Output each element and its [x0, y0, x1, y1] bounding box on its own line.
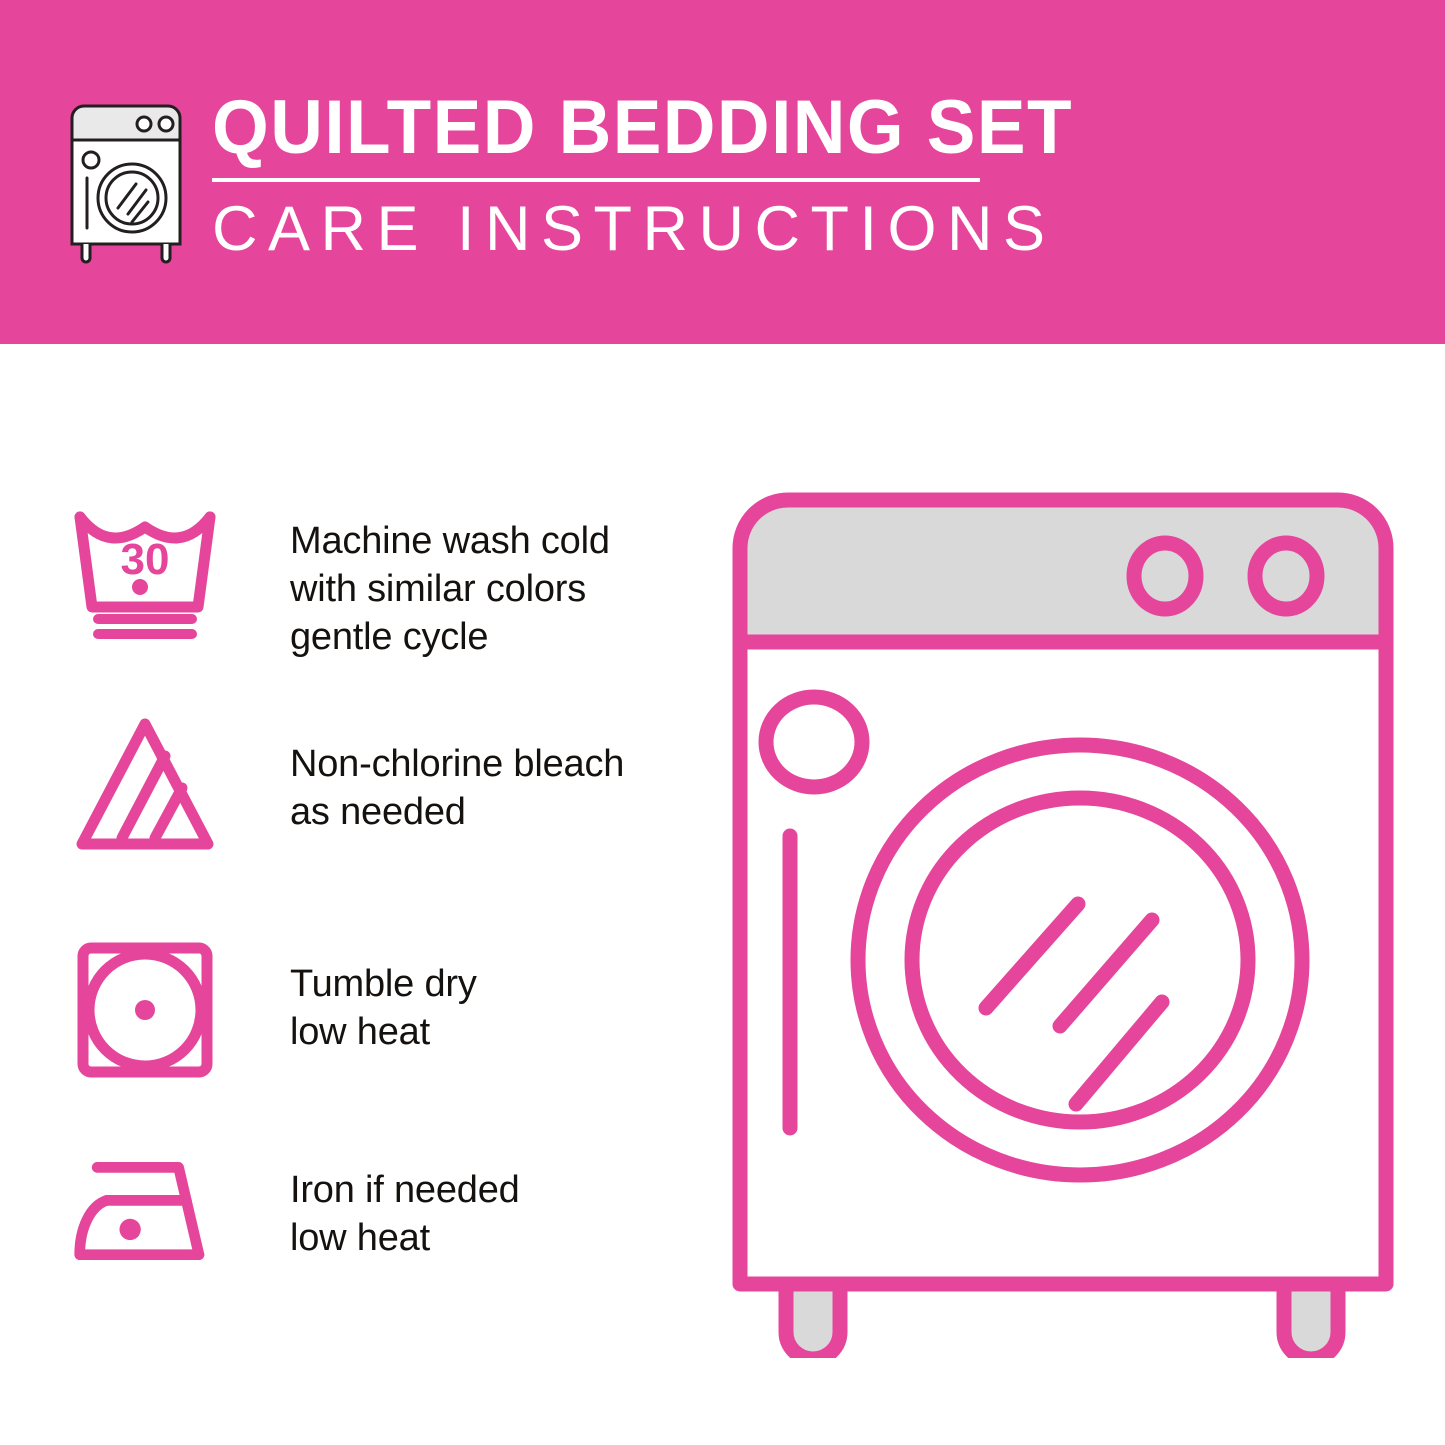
care-item-label: Tumble dry low heat: [230, 940, 477, 1056]
wash-tub-30-icon: 30: [70, 499, 230, 639]
iron-low-heat-icon: [70, 1152, 230, 1272]
header-text-block: QUILTED BEDDING SET CARE INSTRUCTIONS: [212, 88, 1109, 264]
page-subtitle: CARE INSTRUCTIONS: [212, 194, 1109, 264]
washing-machine-illustration: [718, 478, 1408, 1358]
care-item-label: Machine wash cold with similar colors ge…: [230, 499, 610, 661]
care-item-label: Iron if needed low heat: [230, 1152, 520, 1262]
header-banner: QUILTED BEDDING SET CARE INSTRUCTIONS: [0, 0, 1445, 344]
non-chlorine-bleach-triangle-icon: [70, 710, 230, 855]
care-item-iron: Iron if needed low heat: [70, 1152, 520, 1272]
washing-machine-logo-icon: [62, 98, 190, 266]
page-title: QUILTED BEDDING SET: [212, 88, 1073, 168]
care-item-tumble-dry: Tumble dry low heat: [70, 940, 477, 1080]
title-divider: [212, 178, 980, 182]
header-content: QUILTED BEDDING SET CARE INSTRUCTIONS: [62, 88, 1109, 266]
care-item-machine-wash: 30 Machine wash cold with similar colors…: [70, 499, 610, 661]
svg-text:30: 30: [121, 535, 170, 584]
care-item-non-chlorine-bleach: Non-chlorine bleach as needed: [70, 710, 624, 855]
care-instructions-page: QUILTED BEDDING SET CARE INSTRUCTIONS 30: [0, 0, 1445, 1445]
tumble-dry-low-icon: [70, 940, 230, 1080]
care-item-label: Non-chlorine bleach as needed: [230, 710, 624, 836]
